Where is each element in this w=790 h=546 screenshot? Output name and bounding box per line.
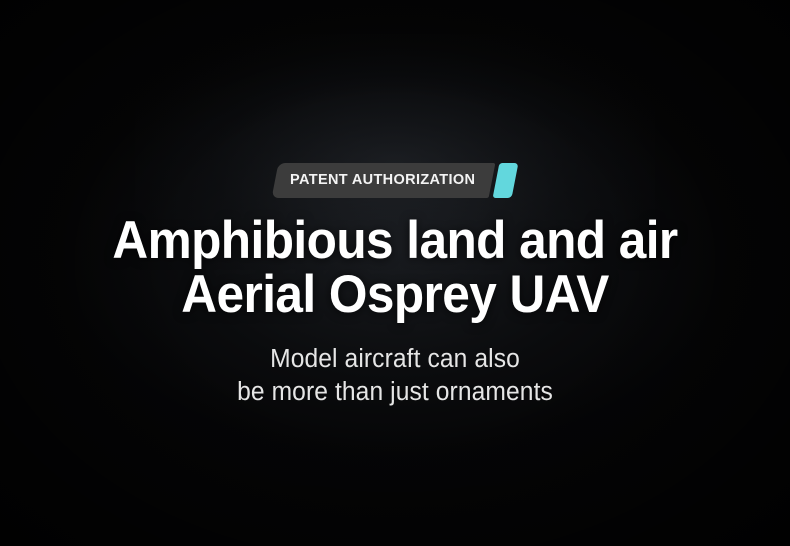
patent-authorization-badge: PATENT AUTHORIZATION: [275, 163, 514, 198]
page-title-line-2: Aerial Osprey UAV: [26, 268, 765, 322]
product-hero-banner: PATENT AUTHORIZATION Amphibious land and…: [0, 0, 790, 546]
page-subtitle-line-2: be more than just ornaments: [14, 376, 776, 409]
page-title-line-1: Amphibious land and air: [26, 214, 765, 268]
page-subtitle: Model aircraft can also be more than jus…: [14, 343, 776, 409]
page-title: Amphibious land and air Aerial Osprey UA…: [26, 214, 765, 322]
badge-label: PATENT AUTHORIZATION: [290, 173, 475, 188]
banner-content: PATENT AUTHORIZATION Amphibious land and…: [0, 0, 790, 546]
page-subtitle-line-1: Model aircraft can also: [14, 343, 776, 376]
badge-accent-shape: [492, 163, 518, 198]
badge-body: PATENT AUTHORIZATION: [272, 163, 496, 198]
badge-row: PATENT AUTHORIZATION: [0, 163, 790, 198]
